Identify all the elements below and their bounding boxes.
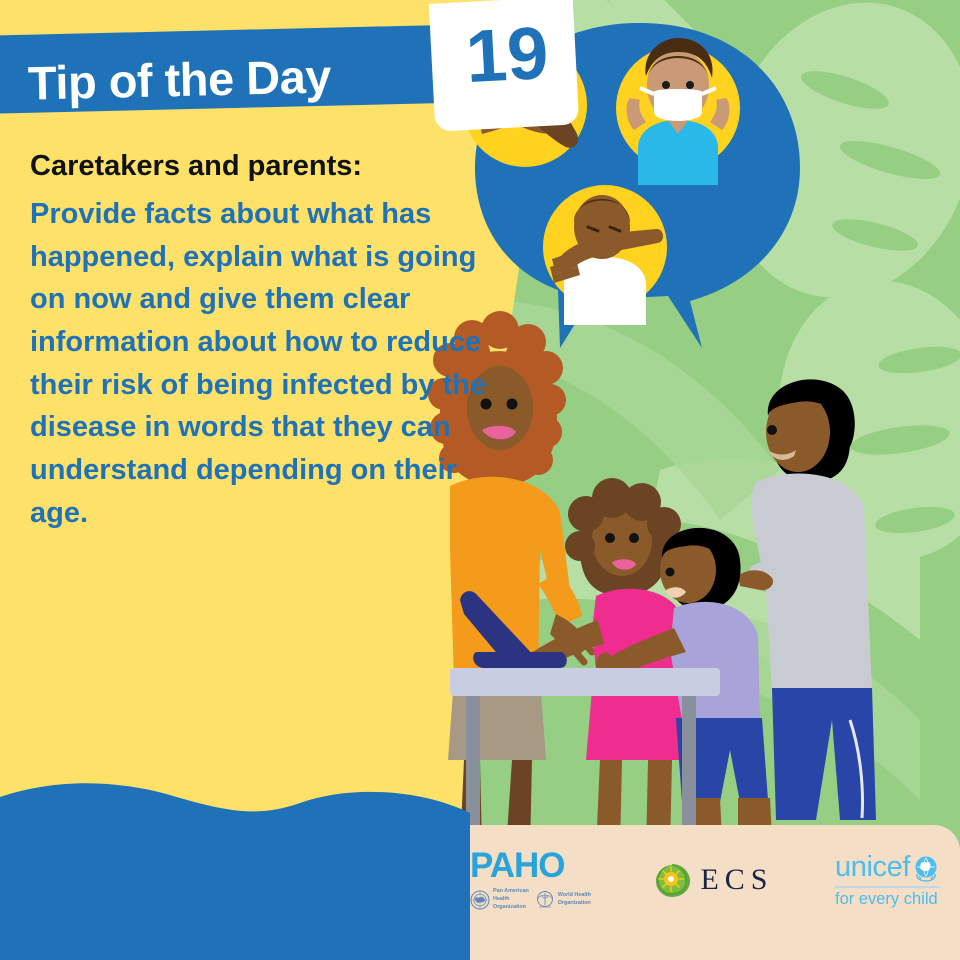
paho-globe-icon [470, 890, 490, 910]
tip-body: Provide facts about what has happened, e… [30, 193, 510, 534]
un-emblem-icon [912, 854, 940, 882]
paho-wordmark: PAHO [470, 848, 565, 883]
ecs-logo: ECS [652, 860, 773, 900]
who-emblem-icon [535, 890, 555, 910]
unicef-logo: unicef for every child [835, 853, 940, 907]
ecs-wordmark: ECS [700, 863, 773, 897]
blue-wave-shape [0, 755, 470, 960]
tip-lead: Caretakers and parents: [30, 146, 510, 187]
tip-copy: Caretakers and parents: Provide facts ab… [30, 146, 510, 534]
paho-sub-text: Pan American Health Organization [493, 888, 529, 911]
logo-bar: PAHO Pan American Health Organization [470, 834, 940, 926]
banner-title: Tip of the Day [27, 48, 331, 110]
paho-sublogos: Pan American Health Organization World H… [470, 888, 591, 911]
who-emblem-group: World Health Organization [535, 888, 591, 911]
unicef-divider [835, 886, 940, 888]
ecs-emblem-icon [652, 860, 692, 900]
paho-emblem-group: Pan American Health Organization [470, 888, 529, 911]
who-sub-text: World Health Organization [558, 892, 591, 908]
paho-logo: PAHO Pan American Health Organization [470, 848, 591, 911]
poster: Tip of the Day 19 Caretakers and parents… [0, 0, 960, 960]
unicef-top-row: unicef [835, 853, 940, 882]
unicef-wordmark: unicef [835, 853, 910, 882]
unicef-tagline: for every child [835, 891, 938, 908]
wear-mask-icon [608, 30, 748, 185]
day-number: 19 [450, 9, 564, 100]
